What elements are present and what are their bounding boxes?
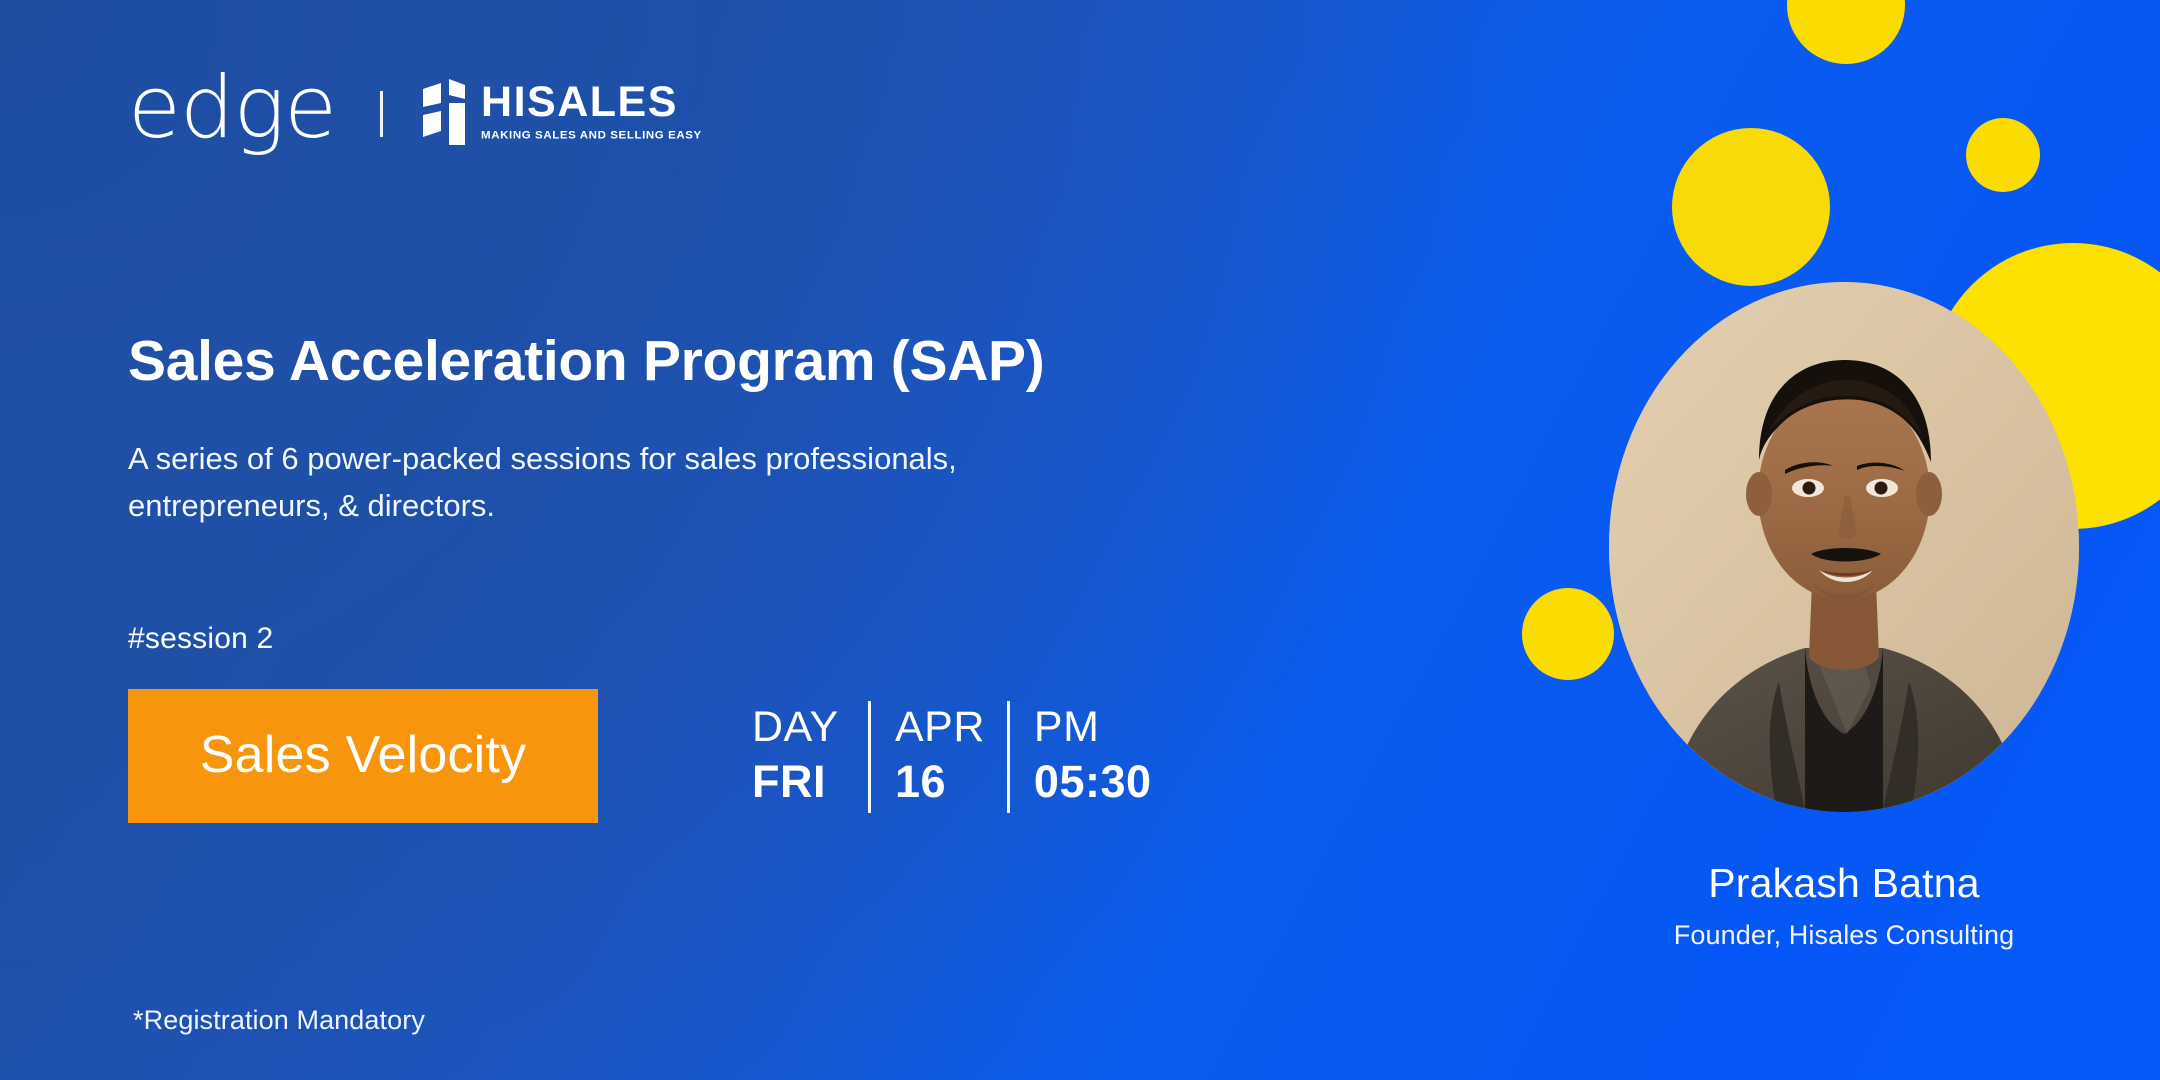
schedule-item-day: DAY FRI bbox=[752, 687, 868, 825]
speaker-role: Founder, Hisales Consulting bbox=[1569, 920, 2119, 951]
schedule-divider-icon bbox=[868, 701, 871, 813]
edge-logo: edge bbox=[128, 65, 336, 151]
logo-divider-icon bbox=[380, 91, 383, 137]
yellow-circle-icon bbox=[1672, 128, 1830, 286]
schedule-item-time: PM 05:30 bbox=[1010, 687, 1174, 825]
hisales-mark-icon bbox=[421, 79, 467, 145]
schedule-value: FRI bbox=[752, 757, 846, 807]
schedule-label: DAY bbox=[752, 705, 846, 751]
schedule-item-date: APR 16 bbox=[871, 687, 1007, 825]
promo-banner: edge HISALES MAKING SALES AND SELLING EA… bbox=[0, 0, 2160, 1080]
session-tag: #session 2 bbox=[128, 622, 273, 656]
yellow-circle-icon bbox=[1522, 588, 1614, 680]
speaker-avatar bbox=[1609, 282, 2079, 812]
schedule-value: 16 bbox=[895, 757, 985, 807]
yellow-circle-icon bbox=[1787, 0, 1905, 64]
speaker-name: Prakash Batna bbox=[1609, 860, 2079, 907]
portrait-photo bbox=[1609, 282, 2079, 812]
registration-note: *Registration Mandatory bbox=[133, 1005, 425, 1036]
schedule-divider-icon bbox=[1007, 701, 1010, 813]
hisales-logo: HISALES MAKING SALES AND SELLING EASY bbox=[421, 79, 702, 145]
session-topic-label: Sales Velocity bbox=[200, 729, 527, 781]
schedule-value: 05:30 bbox=[1034, 757, 1152, 807]
hisales-wordmark: HISALES bbox=[481, 81, 702, 124]
page-subtitle: A series of 6 power-packed sessions for … bbox=[128, 435, 968, 529]
page-title: Sales Acceleration Program (SAP) bbox=[128, 330, 1044, 393]
session-topic-button[interactable]: Sales Velocity bbox=[128, 689, 598, 823]
schedule-strip: DAY FRI APR 16 PM 05:30 bbox=[752, 687, 1174, 825]
brand-header: edge HISALES MAKING SALES AND SELLING EA… bbox=[128, 62, 702, 162]
yellow-circle-icon bbox=[1966, 118, 2040, 192]
schedule-label: PM bbox=[1034, 705, 1152, 751]
schedule-label: APR bbox=[895, 705, 985, 751]
hisales-tagline: MAKING SALES AND SELLING EASY bbox=[481, 131, 702, 142]
